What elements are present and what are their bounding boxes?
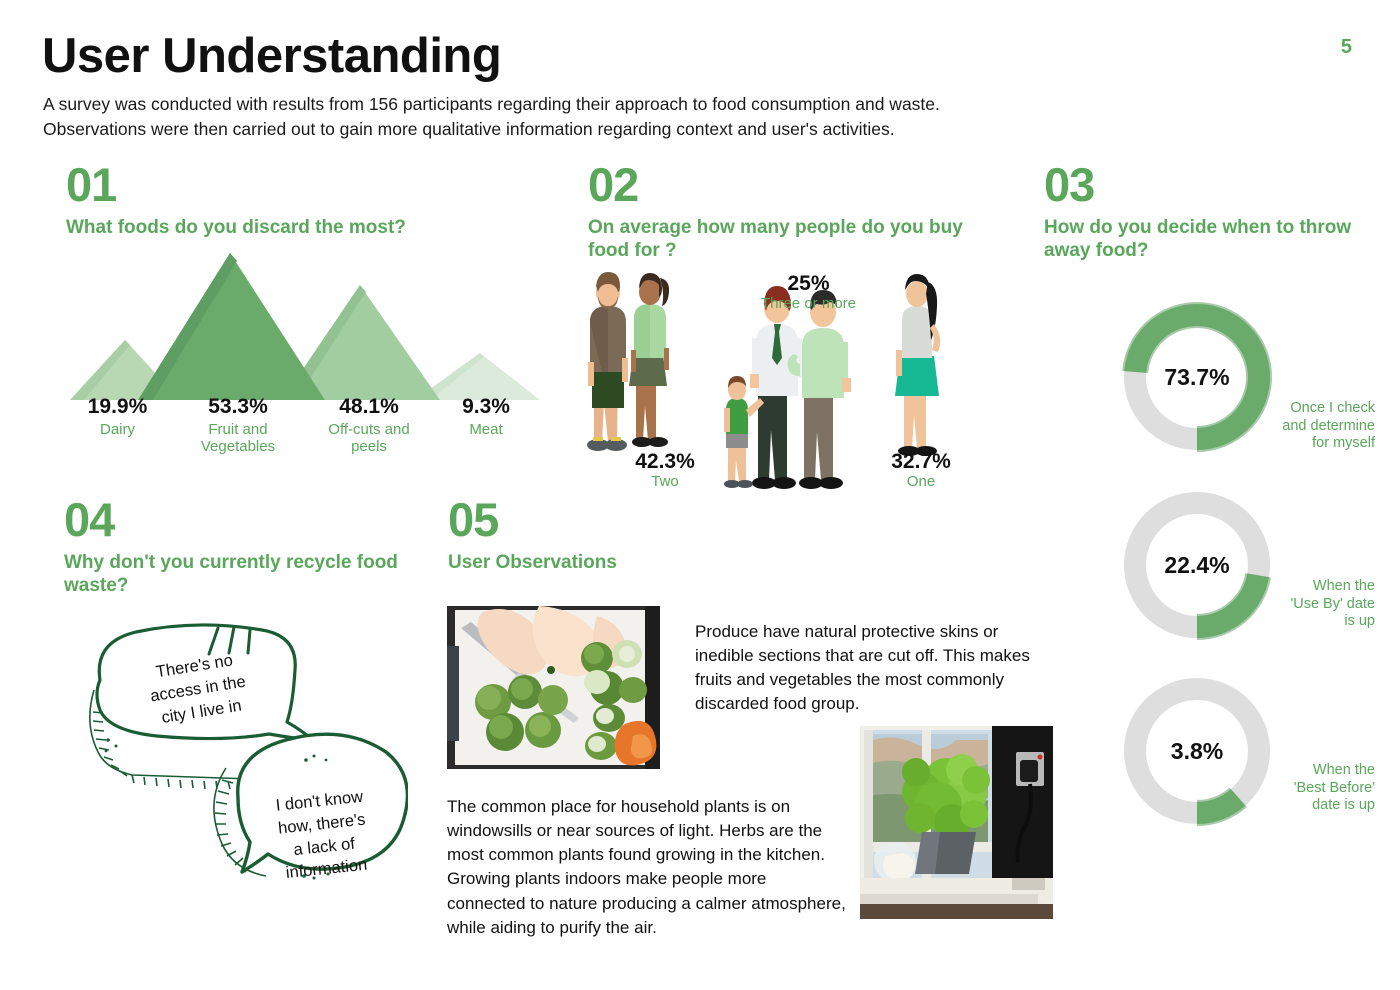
section-04-number: 04 — [64, 498, 434, 543]
donut-2-label-line1: When the — [1313, 578, 1375, 594]
donut-3-value: 3.8% — [1118, 672, 1276, 830]
mountain-pct-dairy: 19.9% — [60, 396, 175, 418]
page-title: User Understanding — [42, 28, 501, 84]
donut-2-value: 22.4% — [1118, 486, 1276, 644]
donut-3-label-line2: 'Best Before' — [1294, 780, 1375, 796]
people-name-three-or-more: Three or more — [726, 295, 891, 312]
donut-chart-1: 73.7% — [1118, 298, 1276, 456]
mountain-pct-meat: 9.3% — [432, 396, 540, 418]
people-pct-one: 32.7% — [856, 450, 986, 473]
mountain-name-fruit-veg: Fruit and Vegetables — [173, 421, 303, 456]
intro-paragraph: A survey was conducted with results from… — [43, 92, 1043, 142]
donut-1-value: 73.7% — [1118, 298, 1276, 456]
people-label-two: 42.3% Two — [600, 450, 730, 490]
section-04: 04 Why don't you currently recycle food … — [64, 498, 434, 597]
bubble-2-line3: a lack of — [293, 834, 356, 858]
donut-2-label-line3: is up — [1344, 613, 1375, 629]
mountain-name-meat: Meat — [432, 421, 540, 438]
observation-2-text: The common place for household plants is… — [447, 795, 847, 940]
donut-1-label: Once I check and determine for myself — [1255, 400, 1375, 453]
section-05-number: 05 — [448, 498, 1038, 543]
mountain-name-offcuts-line1: Off-cuts and — [328, 421, 409, 438]
mountain-chart-labels: 19.9% Dairy 53.3% Fruit and Vegetables 4… — [60, 396, 540, 466]
family-icon — [724, 286, 851, 489]
people-name-one: One — [856, 473, 986, 490]
donut-chart-3: 3.8% — [1118, 672, 1276, 830]
mountain-pct-offcuts: 48.1% — [304, 396, 434, 418]
chopping-brussels-sprouts-photo — [447, 606, 660, 769]
mountain-label-fruit-veg: 53.3% Fruit and Vegetables — [173, 396, 303, 456]
mountain-pct-fruit-veg: 53.3% — [173, 396, 303, 418]
section-03-question: How do you decide when to throw away foo… — [1044, 216, 1374, 262]
donut-3-label: When the 'Best Before' date is up — [1255, 762, 1375, 815]
section-03-number: 03 — [1044, 163, 1374, 208]
mountain-name-fruit-veg-line2: Vegetables — [201, 438, 275, 455]
section-02: 02 On average how many people do you buy… — [588, 163, 1008, 262]
people-label-three-or-more: 25% Three or more — [726, 272, 891, 312]
infographic-page: 5 User Understanding A survey was conduc… — [0, 0, 1400, 990]
bubble-2-text: I don't know how, there's a lack of info… — [244, 782, 403, 888]
mountain-name-offcuts-line2: peels — [351, 438, 387, 455]
mountain-label-offcuts: 48.1% Off-cuts and peels — [304, 396, 434, 456]
people-pct-two: 42.3% — [600, 450, 730, 473]
section-01-question: What foods do you discard the most? — [66, 216, 536, 239]
single-woman-icon — [895, 274, 940, 456]
mountain-name-meat-line1: Meat — [469, 421, 502, 438]
section-03: 03 How do you decide when to throw away … — [1044, 163, 1374, 262]
section-01: 01 What foods do you discard the most? — [66, 163, 536, 239]
donut-3-label-line3: date is up — [1312, 797, 1375, 813]
people-pct-three-or-more: 25% — [726, 272, 891, 295]
section-04-question: Why don't you currently recycle food was… — [64, 551, 434, 597]
donut-chart-2: 22.4% — [1118, 486, 1276, 644]
mountain-chart — [60, 245, 540, 400]
mountain-name-dairy-line1: Dairy — [100, 421, 135, 438]
mountain-name-offcuts: Off-cuts and peels — [304, 421, 434, 456]
section-01-number: 01 — [66, 163, 536, 208]
bubble-1-dots — [105, 738, 118, 752]
section-02-number: 02 — [588, 163, 1008, 208]
mountain-name-fruit-veg-line1: Fruit and — [208, 421, 267, 438]
people-name-two: Two — [600, 473, 730, 490]
donut-2-label: When the 'Use By' date is up — [1255, 578, 1375, 631]
people-label-one: 32.7% One — [856, 450, 986, 490]
mountain-name-dairy: Dairy — [60, 421, 175, 438]
observation-1-text: Produce have natural protective skins or… — [695, 620, 1035, 717]
mountain-label-dairy: 19.9% Dairy — [60, 396, 175, 438]
windowsill-herb-plant-photo — [860, 726, 1053, 919]
donut-1-label-line1: Once I check — [1290, 400, 1375, 416]
donut-3-label-line1: When the — [1313, 762, 1375, 778]
page-number: 5 — [1341, 36, 1352, 59]
donut-1-label-line2: and determine — [1282, 418, 1375, 434]
section-02-question: On average how many people do you buy fo… — [588, 216, 1008, 262]
donut-2-label-line2: 'Use By' date — [1290, 596, 1375, 612]
donut-1-label-line3: for myself — [1312, 435, 1375, 451]
mountain-label-meat: 9.3% Meat — [432, 396, 540, 438]
section-05: 05 User Observations — [448, 498, 1038, 574]
couple-icon — [587, 272, 669, 451]
section-05-question: User Observations — [448, 551, 1038, 574]
